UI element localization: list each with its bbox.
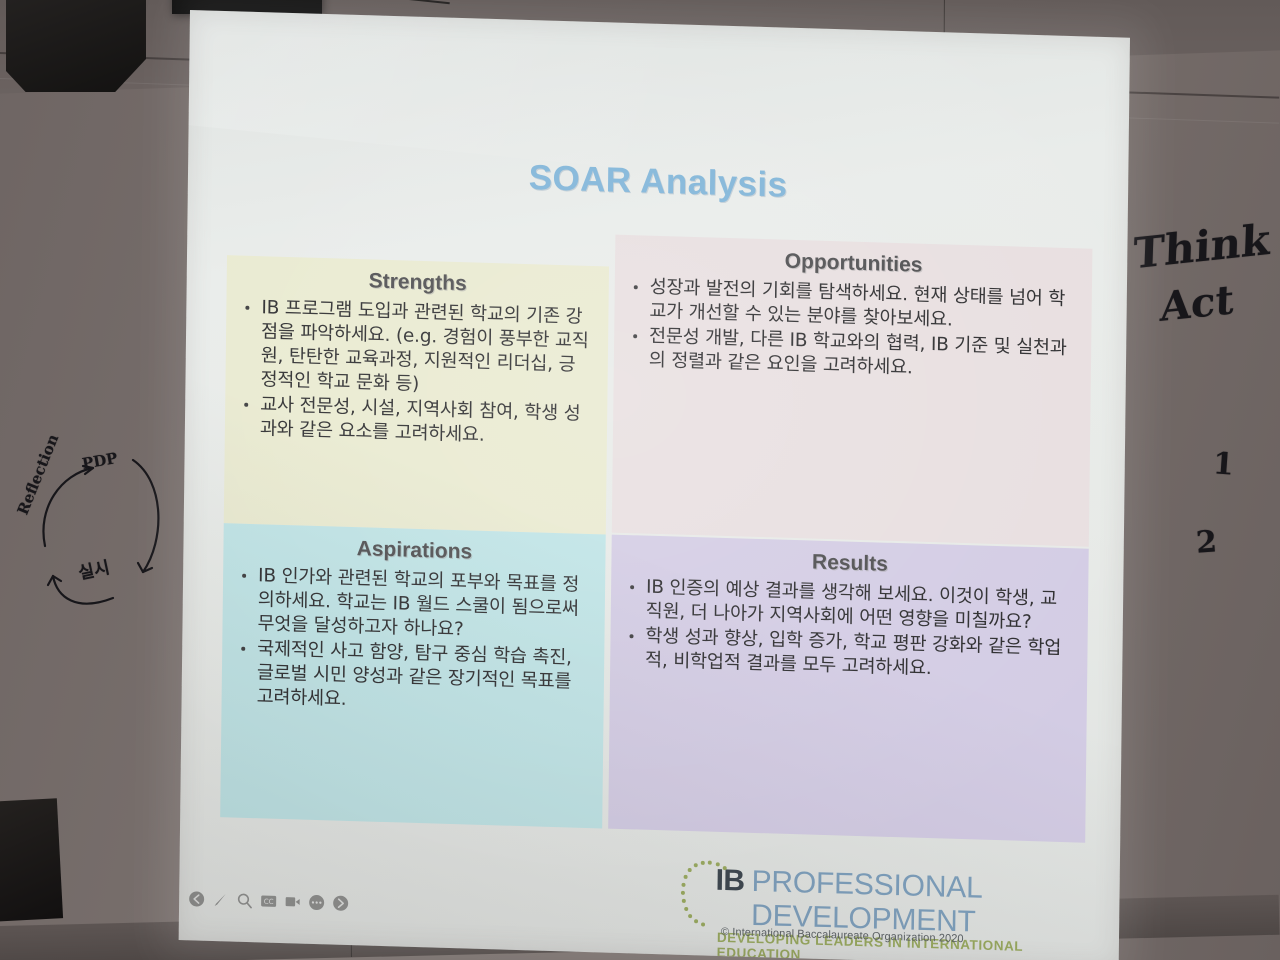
bullet-list-aspirations: IB 인가와 관련된 학교의 포부와 목표를 정의하세요. 학교는 IB 월드 …: [237, 564, 589, 720]
magnifier-icon[interactable]: [236, 892, 253, 910]
svg-text:CC: CC: [264, 898, 274, 906]
previous-slide-icon[interactable]: [188, 890, 205, 908]
quadrant-aspirations: Aspirations IB 인가와 관련된 학교의 포부와 목표를 정의하세요…: [220, 523, 605, 828]
presentation-toolbar[interactable]: CC: [188, 890, 349, 912]
quadrant-heading-strengths: Strengths: [243, 266, 593, 300]
bullet-list-opportunities: 성장과 발전의 기회를 탐색하세요. 현재 상태를 넘어 학교가 개선할 수 있…: [630, 275, 1076, 385]
list-item: IB 인가와 관련된 학교의 포부와 목표를 정의하세요. 학교는 IB 월드 …: [238, 564, 589, 646]
powerpoint-slide[interactable]: SOAR Analysis Strengths IB 프로그램 도입과 관련된 …: [179, 10, 1130, 960]
next-slide-icon[interactable]: [332, 895, 349, 913]
video-icon[interactable]: [284, 893, 301, 911]
quadrant-opportunities: Opportunities 성장과 발전의 기회를 탐색하세요. 현재 상태를 …: [612, 235, 1093, 547]
quadrant-heading-aspirations: Aspirations: [239, 534, 589, 568]
bullet-list-results: IB 인증의 예상 결과를 생각해 보세요. 이것이 학생, 교직원, 더 나아…: [626, 575, 1072, 685]
more-options-icon[interactable]: [308, 894, 325, 912]
slide-title: SOAR Analysis: [188, 148, 1128, 216]
pen-icon[interactable]: [212, 891, 229, 909]
projection-area: SOAR Analysis Strengths IB 프로그램 도입과 관련된 …: [0, 0, 1280, 960]
ib-logo-dots-icon: [679, 859, 732, 929]
bullet-list-strengths: IB 프로그램 도입과 관련된 학교의 기존 강점을 파악하세요. (e.g. …: [241, 296, 593, 452]
subtitles-icon[interactable]: CC: [260, 892, 277, 910]
classroom-scene: Think Act 1 2 PDP 실시 Reflection SOAR Ana…: [0, 0, 1280, 960]
list-item: 국제적인 사고 함양, 탐구 중심 학습 촉진, 글로벌 시민 양성과 같은 장…: [237, 637, 588, 719]
slide-footer: IB PROFESSIONAL DEVELOPMENT DEVELOPING L…: [679, 863, 1100, 960]
list-item: 교사 전문성, 시설, 지역사회 참여, 학생 성과와 같은 요소를 고려하세요…: [241, 393, 591, 451]
corner-dark-object: [0, 798, 63, 921]
list-item: IB 프로그램 도입과 관련된 학교의 기존 강점을 파악하세요. (e.g. …: [241, 296, 592, 403]
soar-quadrant-grid: Strengths IB 프로그램 도입과 관련된 학교의 기존 강점을 파악하…: [220, 223, 1092, 849]
handwritten-cycle-diagram: [15, 430, 185, 620]
quadrant-results: Results IB 인증의 예상 결과를 생각해 보세요. 이것이 학생, 교…: [608, 535, 1089, 843]
quadrant-strengths: Strengths IB 프로그램 도입과 관련된 학교의 기존 강점을 파악하…: [224, 255, 609, 534]
wall-speaker: [6, 0, 146, 92]
